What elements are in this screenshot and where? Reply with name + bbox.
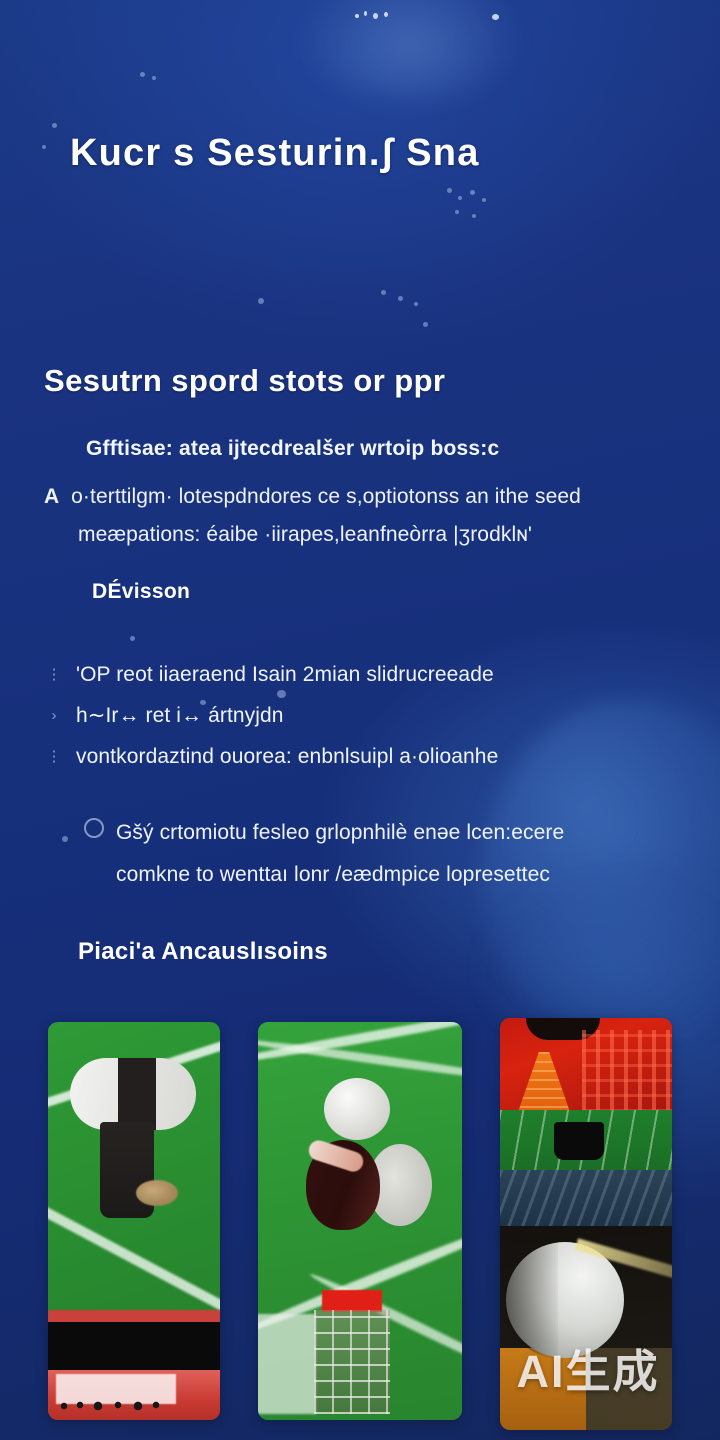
speck-decoration	[423, 322, 428, 327]
orange-block	[500, 1348, 586, 1430]
thumbnail-gallery	[0, 1022, 720, 1440]
dark-specks	[58, 1400, 168, 1412]
speck-decoration	[472, 214, 476, 218]
speck-decoration	[414, 302, 418, 306]
list-item: ⋮ vontkordaztind ouorea: enbnlsuipl a·ol…	[40, 736, 690, 777]
circle-outline-icon	[84, 818, 104, 838]
background-glow-top	[300, 0, 520, 100]
list-item-label: 'OP reot iiaeraend Isain 2mian slidrucre…	[76, 663, 494, 686]
bullet-marker-icon: ⋮	[44, 654, 64, 695]
speck-decoration	[381, 290, 386, 295]
speck-decoration	[482, 198, 486, 202]
paragraph-line: A o·terttilgm· lotespdndores ce s,optiot…	[44, 478, 692, 516]
paragraph-line: meæpations: éaibe ·iirapes,leanfneòrra |…	[78, 516, 692, 554]
gallery-heading: Piaci'a Ancauslısoins	[78, 938, 328, 966]
list-item: › h∼Ir↔ ret i↔ ártnyjdn	[40, 695, 690, 736]
speck-decoration	[42, 145, 46, 149]
bullet-list: ⋮ 'OP reot iiaeraend Isain 2mian slidruc…	[40, 654, 690, 777]
paragraph-prefix: A	[44, 485, 59, 508]
white-structure	[258, 1314, 316, 1414]
paragraph-text: o·terttilgm· lotespdndores ce s,optioton…	[71, 485, 581, 508]
speck-decoration	[52, 123, 57, 128]
sphere-object	[324, 1078, 390, 1140]
red-roof	[322, 1290, 382, 1312]
speck-decoration	[470, 190, 475, 195]
speck-decoration	[458, 196, 462, 200]
gallery-thumbnail-1[interactable]	[48, 1022, 220, 1420]
note-line: Gšý crtomiotu fesleo ɡrlopnhilè enəe lce…	[40, 812, 690, 854]
page-title: Kucr s Sesturin.ʃ Sna	[70, 130, 670, 178]
red-grid-structure	[582, 1030, 672, 1112]
speck-decoration	[364, 11, 367, 16]
speck-decoration	[130, 636, 135, 641]
intro-paragraph: A o·terttilgm· lotespdndores ce s,optiot…	[44, 478, 692, 554]
speck-decoration	[140, 72, 145, 77]
list-item: ⋮ 'OP reot iiaeraend Isain 2mian slidruc…	[40, 654, 690, 695]
black-band	[48, 1322, 220, 1370]
water-band	[500, 1170, 672, 1228]
speck-decoration	[152, 76, 156, 80]
cage-structure	[314, 1310, 390, 1414]
black-box-object	[554, 1122, 604, 1160]
lead-line: Gfftisae: atea ijtecdrealšer wrtoip boss…	[86, 437, 686, 461]
object-detail	[136, 1180, 178, 1206]
speck-decoration	[384, 12, 388, 17]
speck-decoration	[258, 298, 264, 304]
bullet-marker-icon: ⋮	[44, 736, 64, 777]
speck-decoration	[492, 14, 499, 20]
gallery-thumbnail-3[interactable]	[500, 1018, 672, 1430]
speck-decoration	[398, 296, 403, 301]
speck-decoration	[355, 14, 359, 18]
speck-decoration	[447, 188, 452, 193]
gallery-thumbnail-2[interactable]	[258, 1022, 462, 1420]
list-item-label: vontkordaztind ouorea: enbnlsuipl a·olio…	[76, 745, 498, 768]
speck-decoration	[373, 13, 378, 19]
note-block: Gšý crtomiotu fesleo ɡrlopnhilè enəe lce…	[40, 812, 690, 896]
subheading: DÉvisson	[92, 580, 190, 604]
note-line: comkne to wenttaı lonr /eædmpice loprese…	[40, 854, 690, 896]
poster-canvas: Kucr s Sesturin.ʃ Sna Sesutrn spord stot…	[0, 0, 720, 1440]
object-head-dark-band	[118, 1058, 156, 1130]
section-heading: Sesutrn spord stots or ppr	[44, 363, 684, 399]
list-item-label: h∼Ir↔ ret i↔ ártnyjdn	[76, 704, 284, 727]
speck-decoration	[455, 210, 459, 214]
bullet-marker-icon: ›	[44, 695, 64, 736]
